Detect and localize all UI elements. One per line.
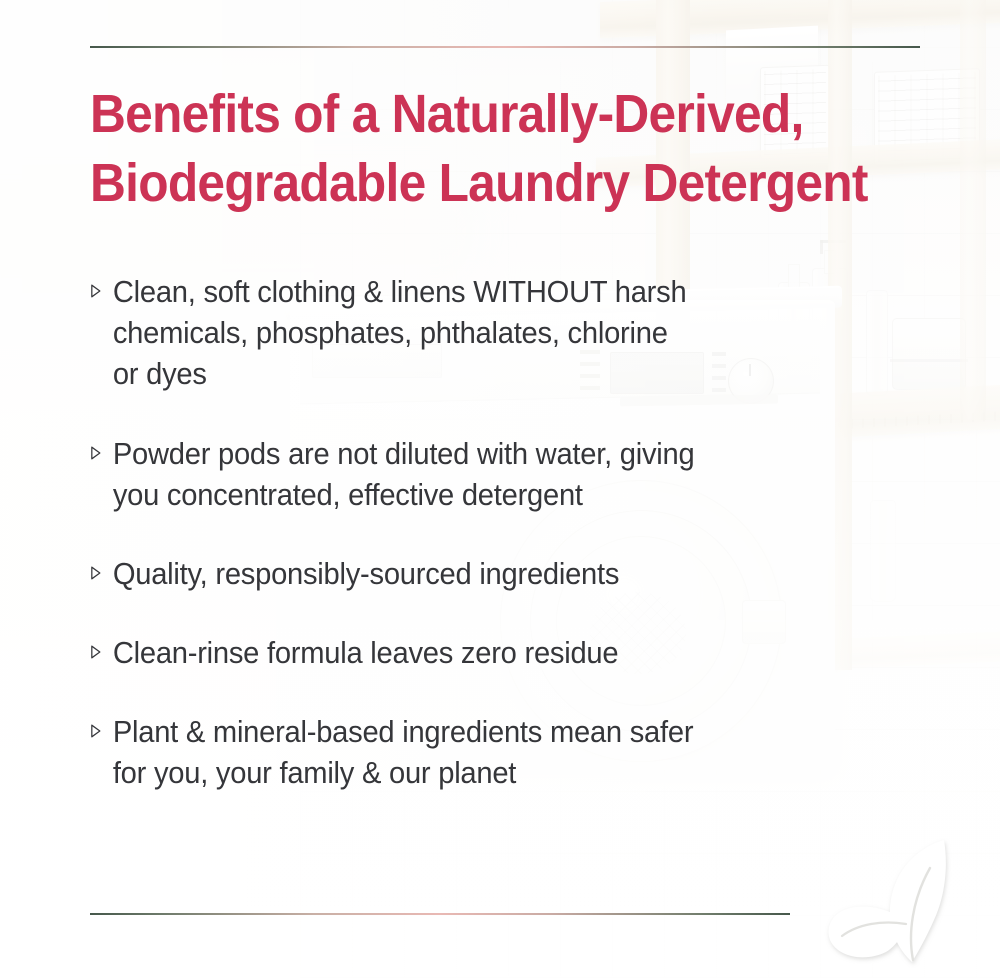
- triangle-right-icon: [88, 633, 113, 660]
- list-item-label: Clean, soft clothing & linens WITHOUT ha…: [113, 272, 795, 396]
- list-item-label: Plant & mineral-based ingredients mean s…: [113, 712, 795, 794]
- triangle-right-icon: [88, 554, 113, 581]
- divider-rule-bottom: [90, 913, 790, 915]
- list-item: Powder pods are not diluted with water, …: [88, 434, 795, 516]
- list-item-label: Clean-rinse formula leaves zero residue: [113, 633, 795, 674]
- two-leaf-logo: [816, 838, 986, 968]
- list-item-label: Powder pods are not diluted with water, …: [113, 434, 795, 516]
- list-item: Plant & mineral-based ingredients mean s…: [88, 712, 795, 794]
- triangle-right-icon: [88, 434, 113, 461]
- content-layer: Benefits of a Naturally-Derived, Biodegr…: [0, 0, 1000, 978]
- divider-rule-top: [90, 46, 920, 48]
- list-item-label: Quality, responsibly-sourced ingredients: [113, 554, 795, 595]
- benefits-list: Clean, soft clothing & linens WITHOUT ha…: [88, 272, 828, 795]
- list-item: Quality, responsibly-sourced ingredients: [88, 554, 795, 595]
- list-item: Clean, soft clothing & linens WITHOUT ha…: [88, 272, 795, 396]
- list-item: Clean-rinse formula leaves zero residue: [88, 633, 795, 674]
- promo-graphic: Benefits of a Naturally-Derived, Biodegr…: [0, 0, 1000, 978]
- triangle-right-icon: [88, 272, 113, 299]
- page-title: Benefits of a Naturally-Derived, Biodegr…: [90, 80, 881, 217]
- triangle-right-icon: [88, 712, 113, 739]
